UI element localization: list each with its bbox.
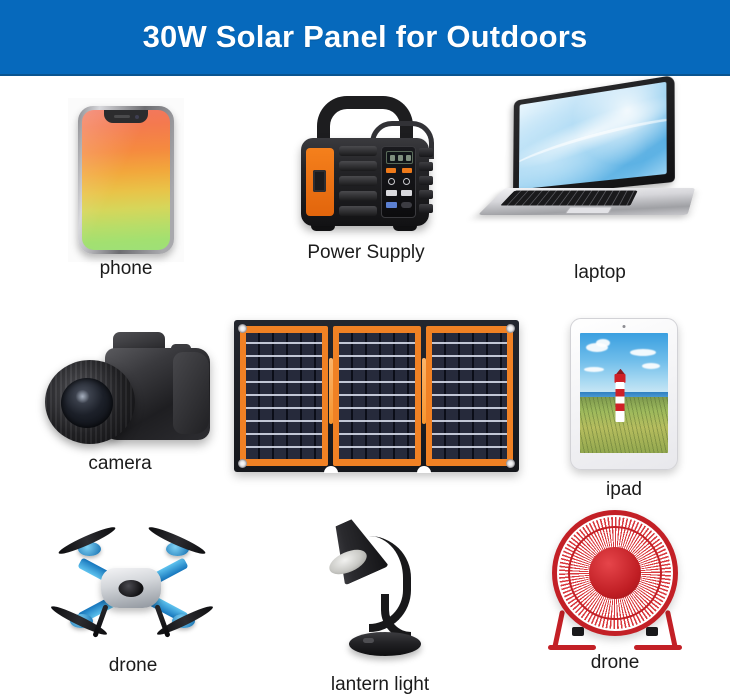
fan-outer-ring bbox=[552, 510, 678, 636]
power-station-usb-port-2 bbox=[401, 190, 412, 196]
power-station-button-right[interactable] bbox=[402, 168, 412, 173]
solar-panel-fold-notch-1 bbox=[324, 466, 338, 473]
caption-power-supply: Power Supply bbox=[290, 242, 442, 264]
camera-lens-glass bbox=[61, 378, 113, 428]
solar-panel-fold-notch-2 bbox=[417, 466, 431, 473]
tablet-screen bbox=[580, 333, 668, 453]
drone-camera-icon bbox=[119, 580, 144, 597]
cloud-3 bbox=[630, 349, 656, 356]
lighthouse bbox=[614, 367, 627, 422]
phone-frame bbox=[78, 106, 174, 254]
power-station-dc-port-right bbox=[403, 178, 410, 185]
tablet-front-camera-icon bbox=[623, 325, 626, 328]
dslr-camera-illustration bbox=[45, 330, 210, 450]
lighthouse-tower bbox=[616, 382, 625, 422]
solar-panel-grommet-bl bbox=[238, 459, 247, 468]
fan-pivot-right bbox=[646, 627, 658, 636]
solar-panel-hinge-2 bbox=[422, 358, 426, 424]
solar-cells-2 bbox=[339, 333, 415, 459]
fan-foot-left bbox=[548, 645, 596, 650]
power-station-side-vents bbox=[419, 148, 433, 216]
quadcopter-drone-illustration bbox=[48, 520, 218, 650]
page-header-banner: 30W Solar Panel for Outdoors bbox=[0, 0, 730, 76]
caption-ipad: ipad bbox=[570, 479, 678, 501]
caption-phone: phone bbox=[78, 258, 174, 280]
smartphone-illustration bbox=[78, 106, 174, 254]
caption-laptop: laptop bbox=[545, 262, 655, 284]
solar-cells-3 bbox=[432, 333, 507, 459]
power-station-body bbox=[301, 138, 429, 226]
solar-panel-grommet-tl bbox=[238, 324, 247, 333]
drone-body bbox=[101, 568, 161, 608]
caption-camera: camera bbox=[55, 453, 185, 475]
solar-panel-grommet-tr bbox=[506, 324, 515, 333]
tablet-frame bbox=[570, 318, 678, 470]
cloud-4 bbox=[642, 363, 660, 369]
laptop-screen bbox=[519, 82, 667, 190]
portable-power-station-illustration bbox=[293, 96, 438, 236]
power-station-usb-port-1 bbox=[386, 190, 397, 196]
power-station-vents bbox=[339, 146, 377, 218]
folding-solar-panel-illustration bbox=[234, 320, 519, 472]
solar-panel-section-1 bbox=[240, 326, 328, 466]
solar-panel-hinge-1 bbox=[329, 358, 333, 424]
laptop-trackpad bbox=[565, 207, 613, 214]
cloud-2 bbox=[596, 339, 610, 347]
power-station-lcd-display bbox=[386, 151, 413, 164]
caption-lantern-light: lantern light bbox=[305, 674, 455, 696]
power-station-usbc-port bbox=[401, 202, 412, 208]
laptop-base bbox=[478, 188, 695, 215]
power-station-control-panel bbox=[381, 146, 416, 218]
phone-screen bbox=[82, 110, 170, 250]
phone-notch bbox=[104, 110, 148, 123]
tablet-illustration bbox=[570, 318, 678, 470]
lamp-switch[interactable] bbox=[363, 638, 374, 643]
caption-fan: drone bbox=[560, 652, 670, 674]
fan-pivot-left bbox=[572, 627, 584, 636]
power-station-usb3-port bbox=[386, 202, 397, 208]
fan-hub bbox=[589, 547, 641, 599]
cloud-5 bbox=[584, 367, 604, 372]
solar-panel-grommet-br bbox=[506, 459, 515, 468]
laptop-lid bbox=[513, 75, 675, 198]
desk-fan-illustration bbox=[540, 510, 690, 650]
camera-grip bbox=[173, 352, 209, 434]
caption-drone: drone bbox=[68, 655, 198, 677]
camera-lens bbox=[45, 360, 135, 444]
solar-cells-1 bbox=[246, 333, 322, 459]
solar-panel-section-2 bbox=[333, 326, 421, 466]
lamp-base bbox=[349, 632, 421, 656]
fan-foot-right bbox=[634, 645, 682, 650]
desk-lamp-illustration bbox=[325, 508, 435, 664]
power-station-button-left[interactable] bbox=[386, 168, 396, 173]
power-station-orange-panel bbox=[306, 148, 334, 216]
laptop-illustration bbox=[505, 100, 695, 235]
page-title: 30W Solar Panel for Outdoors bbox=[143, 19, 588, 55]
power-station-dc-port-left bbox=[388, 178, 395, 185]
solar-panel-section-3 bbox=[426, 326, 513, 466]
laptop-keyboard bbox=[500, 191, 637, 206]
